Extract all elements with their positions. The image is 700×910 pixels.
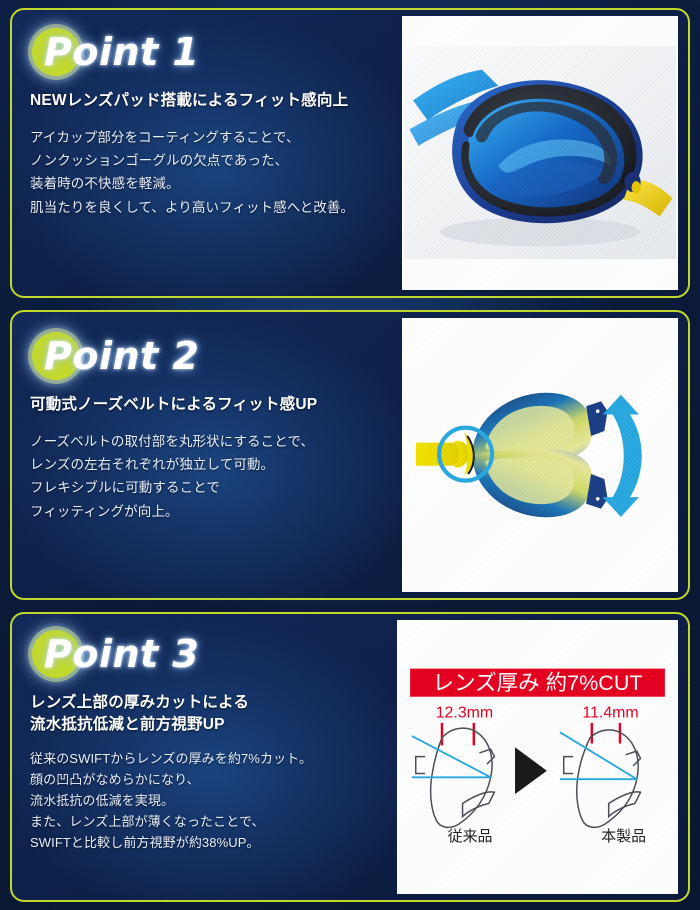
point-1-badge-label: Point 1 xyxy=(44,30,199,74)
point-3-body-line: 顔の凹凸がなめらかになり、 xyxy=(30,769,387,790)
point-2-headline: 可動式ノーズベルトによるフィット感UP xyxy=(30,394,392,416)
point-1-body-line: ノンクッションゴーグルの欠点であった、 xyxy=(30,149,392,172)
goggle-eyecup-illustration xyxy=(404,46,676,259)
point-1-body-line: アイカップ部分をコーティングすることで、 xyxy=(30,126,392,149)
point-3-figure-area: レンズ厚み 約7%CUT 12.3mm 従来品 xyxy=(397,614,688,900)
goggle-eyecup-photo xyxy=(402,16,678,290)
point-1-body-line: 装着時の不快感を軽減。 xyxy=(30,172,392,195)
point-1-headline: NEWレンズパッド搭載によるフィット感向上 xyxy=(30,90,392,112)
point-3-badge-label: Point 3 xyxy=(44,632,199,676)
point-2-badge: Point 2 xyxy=(28,328,392,384)
feature-card-point-3: Point 3 レンズ上部の厚みカットによる 流水抵抗低減と前方視野UP 従来の… xyxy=(10,612,690,902)
point-1-body: アイカップ部分をコーティングすることで、 ノンクッションゴーグルの欠点であった、… xyxy=(30,126,392,219)
point-3-body-line: SWIFTと比較し前方視野が約38%UP。 xyxy=(30,832,387,853)
point-3-headline: レンズ上部の厚みカットによる 流水抵抗低減と前方視野UP xyxy=(30,692,387,736)
point-3-headline-line: 流水抵抗低減と前方視野UP xyxy=(30,714,387,736)
nose-belt-pivot-illustration xyxy=(416,360,664,550)
point-1-content: Point 1 NEWレンズパッド搭載によるフィット感向上 アイカップ部分をコー… xyxy=(12,10,402,296)
point-2-body: ノーズベルトの取付部を丸形状にすることで、 レンズの左右それぞれが独立して可動。… xyxy=(30,430,392,523)
thickness-banner-label: レンズ厚み 約7%CUT xyxy=(432,671,642,695)
left-product-label: 従来品 xyxy=(448,828,493,845)
right-measure-label: 11.4mm xyxy=(582,705,638,722)
right-product-label: 本製品 xyxy=(601,828,646,845)
point-3-body-line: 従来のSWIFTからレンズの厚みを約7%カット。 xyxy=(30,748,387,769)
point-3-body-line: 流水抵抗の低減を実現。 xyxy=(30,790,387,811)
point-3-content: Point 3 レンズ上部の厚みカットによる 流水抵抗低減と前方視野UP 従来の… xyxy=(12,614,397,900)
point-3-badge: Point 3 xyxy=(28,626,387,682)
point-2-content: Point 2 可動式ノーズベルトによるフィット感UP ノーズベルトの取付部を丸… xyxy=(12,312,402,598)
point-2-body-line: フィッティングが向上。 xyxy=(30,500,392,523)
point-1-body-line: 肌当たりを良くして、より高いフィット感へと改善。 xyxy=(30,196,392,219)
point-3-body-line: また、レンズ上部が薄くなったことで、 xyxy=(30,811,387,832)
lens-thickness-comparison-illustration: レンズ厚み 約7%CUT 12.3mm 従来品 xyxy=(397,663,678,850)
point-3-body: 従来のSWIFTからレンズの厚みを約7%カット。 顔の凹凸がなめらかになり、 流… xyxy=(30,748,387,853)
nose-belt-pivot-diagram xyxy=(402,318,678,592)
feature-card-point-2: Point 2 可動式ノーズベルトによるフィット感UP ノーズベルトの取付部を丸… xyxy=(10,310,690,600)
left-measure-label: 12.3mm xyxy=(436,705,493,722)
point-2-badge-label: Point 2 xyxy=(44,334,199,378)
feature-card-point-1: Point 1 NEWレンズパッド搭載によるフィット感向上 アイカップ部分をコー… xyxy=(10,8,690,298)
point-3-headline-line: レンズ上部の厚みカットによる xyxy=(30,692,387,714)
product-feature-page: Point 1 NEWレンズパッド搭載によるフィット感向上 アイカップ部分をコー… xyxy=(0,0,700,910)
point-2-body-line: フレキシブルに可動することで xyxy=(30,476,392,499)
point-2-figure-area xyxy=(402,312,688,598)
point-1-figure-area xyxy=(402,10,688,296)
point-1-badge: Point 1 xyxy=(28,24,392,80)
point-2-body-line: レンズの左右それぞれが独立して可動。 xyxy=(30,453,392,476)
lens-thickness-comparison-diagram: レンズ厚み 約7%CUT 12.3mm 従来品 xyxy=(397,620,678,894)
point-2-body-line: ノーズベルトの取付部を丸形状にすることで、 xyxy=(30,430,392,453)
